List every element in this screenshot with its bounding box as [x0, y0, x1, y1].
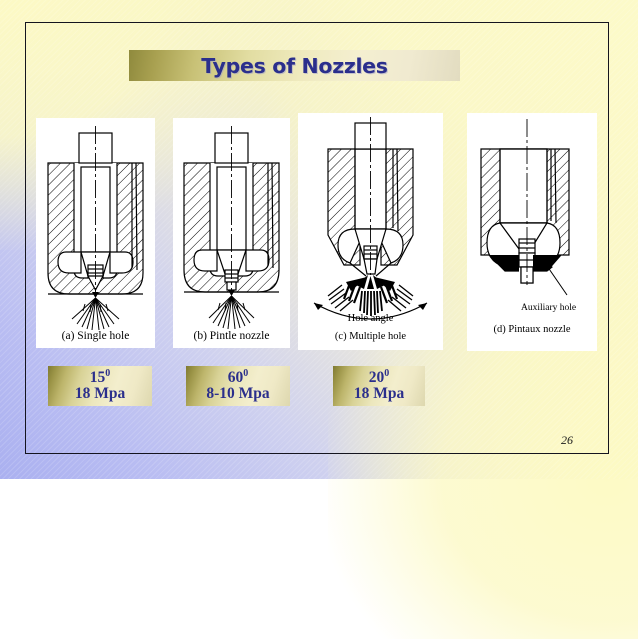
spec-angle: 200 [369, 370, 390, 386]
pintle-nozzle-drawing [173, 118, 290, 348]
caption-single-hole: (a) Single hole [36, 330, 155, 342]
page-number: 26 [561, 433, 573, 448]
spray-lines [209, 296, 254, 329]
figure-single-hole [36, 118, 155, 348]
page-title: Types of Nozzles [129, 50, 460, 81]
spec-angle: 600 [228, 370, 249, 386]
single-hole-drawing [36, 118, 155, 348]
spec-pressure: 18 Mpa [75, 386, 125, 402]
caption-pintle-nozzle: (b) Pintle nozzle [173, 330, 290, 342]
spec-pressure: 18 Mpa [354, 386, 404, 402]
figure-pintle-nozzle [173, 118, 290, 348]
caption-multiple-hole: (c) Multiple hole [298, 331, 443, 342]
spray-lines [72, 298, 119, 330]
spec-pressure: 8-10 Mpa [206, 386, 269, 402]
auxiliary-hole-label: Auxiliary hole [521, 303, 576, 313]
spec-box-pintle-nozzle: 600 8-10 Mpa [186, 366, 290, 406]
spec-box-single-hole: 150 18 Mpa [48, 366, 152, 406]
spec-angle: 150 [90, 370, 111, 386]
caption-pintaux-nozzle: (d) Pintaux nozzle [467, 324, 597, 335]
figure-pintaux-nozzle [467, 113, 597, 351]
hole-angle-label: Hole angle [298, 313, 443, 324]
pintaux-nozzle-drawing [467, 113, 597, 351]
slide-canvas: Types of Nozzles [0, 0, 638, 479]
spray-cones [328, 275, 413, 316]
spec-box-multiple-hole: 200 18 Mpa [333, 366, 425, 406]
